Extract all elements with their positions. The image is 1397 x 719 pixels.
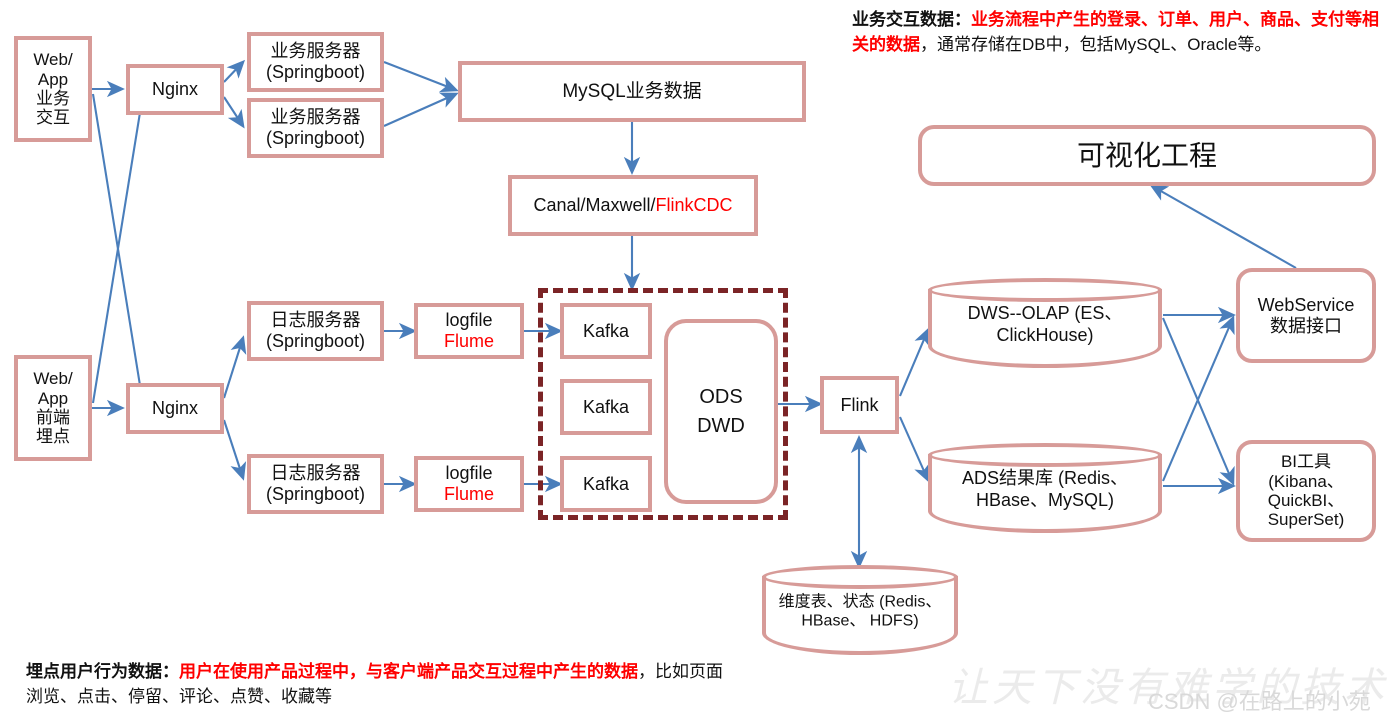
note-business-label: 业务交互数据： xyxy=(852,10,971,29)
arrow-nginx-top-to-biz-server-1 xyxy=(224,62,243,82)
node-line: HDFS) xyxy=(870,613,919,630)
node-kafka-1[interactable]: Kafka xyxy=(560,303,652,359)
node-line: App xyxy=(38,389,68,408)
node-log-server-2[interactable]: 日志服务器 (Springboot) xyxy=(247,454,384,514)
node-line: logfile xyxy=(445,310,492,331)
node-line: SuperSet) xyxy=(1268,510,1345,529)
arrow-webapp-business-to-nginx-bottom xyxy=(93,94,143,404)
node-webservice[interactable]: WebService 数据接口 xyxy=(1236,268,1376,363)
arrow-flink-to-ads xyxy=(900,417,928,480)
node-line: (Springboot) xyxy=(266,128,365,149)
node-line: BI工具 xyxy=(1281,452,1331,471)
node-line: 交互 xyxy=(36,108,70,127)
node-line: ODS xyxy=(699,383,742,412)
note-business-rest: ，通常存储在DB中，包括MySQL、Oracle等。 xyxy=(920,35,1271,54)
node-nginx-bottom[interactable]: Nginx xyxy=(126,383,224,434)
node-nginx-top[interactable]: Nginx xyxy=(126,64,224,115)
arrow-dws-to-bi-tools xyxy=(1163,318,1233,483)
node-line: 数据接口 xyxy=(1270,316,1342,337)
node-line: 日志服务器 xyxy=(271,310,361,331)
node-line: WebService xyxy=(1258,295,1355,316)
note-business-data: 业务交互数据：业务流程中产生的登录、订单、用户、商品、支付等相关的数据，通常存储… xyxy=(852,8,1392,57)
arrow-nginx-bottom-to-log-server-2 xyxy=(224,420,243,478)
cylinder-top xyxy=(762,565,958,589)
node-kafka-2[interactable]: Kafka xyxy=(560,379,652,435)
node-web-app-frontend[interactable]: Web/ App 前端 埋点 xyxy=(14,355,92,461)
node-line: (Springboot) xyxy=(266,331,365,352)
cdc-highlight-text: FlinkCDC xyxy=(656,195,733,215)
node-flink[interactable]: Flink xyxy=(820,376,899,434)
node-line: App xyxy=(38,70,68,89)
node-biz-server-1[interactable]: 业务服务器 (Springboot) xyxy=(247,32,384,92)
cylinder-label: DWS--OLAP (ES、ClickHouse) xyxy=(928,303,1162,346)
node-line: DWS--OLAP xyxy=(968,303,1070,323)
cylinder-top xyxy=(928,278,1162,302)
node-dws-olap[interactable]: DWS--OLAP (ES、ClickHouse) xyxy=(928,278,1162,368)
node-line: Nginx xyxy=(152,398,198,419)
node-log-server-1[interactable]: 日志服务器 (Springboot) xyxy=(247,301,384,361)
node-line: (Kibana、 xyxy=(1268,472,1344,491)
node-flume-1[interactable]: logfile Flume xyxy=(414,303,524,359)
note-tracking-highlight: 用户在使用产品过程中，与客户端产品交互过程中产生的数据 xyxy=(179,662,638,681)
arrow-biz-server-2-to-mysql xyxy=(384,94,456,126)
node-line: Kafka xyxy=(583,397,629,418)
node-line: 日志服务器 xyxy=(271,463,361,484)
node-line: Nginx xyxy=(152,79,198,100)
node-line-highlight: Flume xyxy=(444,484,494,505)
node-line: 业务 xyxy=(36,89,70,108)
node-cdc[interactable]: Canal/Maxwell/FlinkCDC xyxy=(508,175,758,236)
arrow-ads-to-webservice xyxy=(1163,318,1233,481)
csdn-watermark: CSDN @在路上的小苑 xyxy=(1148,684,1371,716)
node-line: 埋点 xyxy=(36,427,70,446)
node-line: (Springboot) xyxy=(266,484,365,505)
node-dim-state[interactable]: 维度表、状态 (Redis、HBase、 HDFS) xyxy=(762,565,958,655)
node-line: 前端 xyxy=(36,408,70,427)
note-tracking-data: 埋点用户行为数据：用户在使用产品过程中，与客户端产品交互过程中产生的数据，比如页… xyxy=(26,660,726,709)
node-line: (Springboot) xyxy=(266,62,365,83)
cylinder-label: ADS结果库 (Redis、HBase、MySQL) xyxy=(928,468,1162,511)
node-mysql-business[interactable]: MySQL业务数据 xyxy=(458,61,806,122)
node-line: Flink xyxy=(840,395,878,416)
arrow-webapp-frontend-to-nginx-top xyxy=(93,94,143,403)
node-visualization[interactable]: 可视化工程 xyxy=(918,125,1376,186)
cdc-plain-text: Canal/Maxwell/ xyxy=(533,195,655,215)
node-biz-server-2[interactable]: 业务服务器 (Springboot) xyxy=(247,98,384,158)
arrow-webservice-to-visualization xyxy=(1152,186,1296,268)
arrow-biz-server-1-to-mysql xyxy=(384,62,456,90)
node-line-highlight: Flume xyxy=(444,331,494,352)
cylinder-label: 维度表、状态 (Redis、HBase、 HDFS) xyxy=(762,592,958,630)
node-bi-tools[interactable]: BI工具 (Kibana、 QuickBI、 SuperSet) xyxy=(1236,440,1376,542)
node-ods-dwd[interactable]: ODS DWD xyxy=(664,319,778,504)
node-kafka-3[interactable]: Kafka xyxy=(560,456,652,512)
node-line: 业务服务器 xyxy=(271,107,361,128)
node-line: Web/ xyxy=(33,50,72,69)
node-line: QuickBI、 xyxy=(1268,491,1345,510)
node-line: logfile xyxy=(445,463,492,484)
node-line: ADS结果库 xyxy=(962,468,1053,488)
diagram-canvas: 让天下没有难学的技术 CSDN @在路上的小苑 Web/ App 业务 交互 N… xyxy=(0,0,1397,719)
node-web-app-business[interactable]: Web/ App 业务 交互 xyxy=(14,36,92,142)
node-flume-2[interactable]: logfile Flume xyxy=(414,456,524,512)
node-line: Kafka xyxy=(583,474,629,495)
node-line: 维度表、状态 xyxy=(779,593,875,610)
cylinder-top xyxy=(928,443,1162,467)
node-line: Canal/Maxwell/FlinkCDC xyxy=(533,195,732,216)
node-line: Kafka xyxy=(583,321,629,342)
node-line: Web/ xyxy=(33,369,72,388)
arrow-nginx-bottom-to-log-server-1 xyxy=(224,338,243,398)
arrow-nginx-top-to-biz-server-2 xyxy=(224,97,243,126)
arrow-flink-to-dws-olap xyxy=(900,330,928,396)
node-line: MySQL业务数据 xyxy=(562,81,701,103)
node-line: 业务服务器 xyxy=(271,41,361,62)
node-ads-result[interactable]: ADS结果库 (Redis、HBase、MySQL) xyxy=(928,443,1162,533)
note-tracking-label: 埋点用户行为数据： xyxy=(26,662,179,681)
node-line: 可视化工程 xyxy=(1077,140,1217,172)
node-line: DWD xyxy=(697,412,745,441)
